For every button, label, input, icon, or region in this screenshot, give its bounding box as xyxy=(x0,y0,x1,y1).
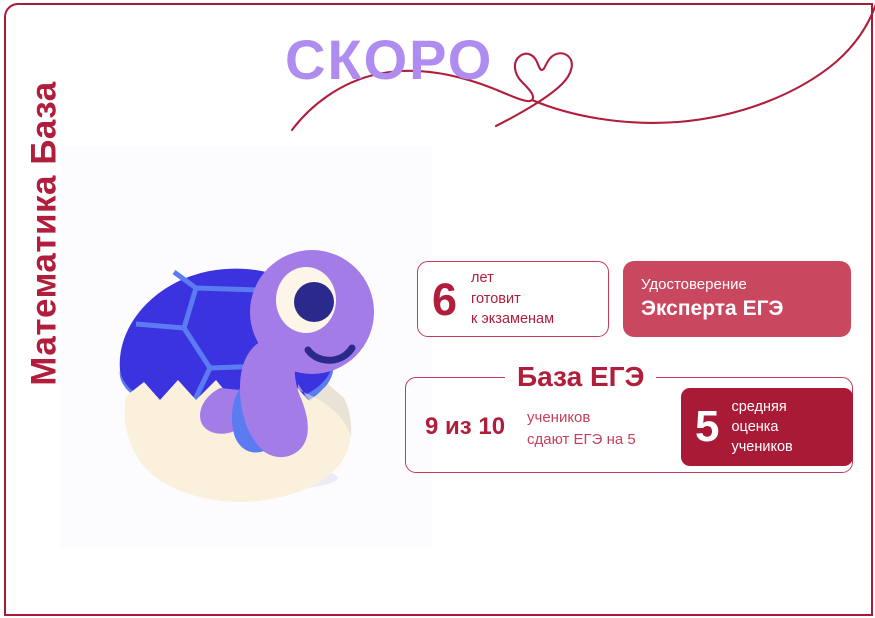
card-years[interactable]: 6 лет готовит к экзаменам xyxy=(417,261,609,337)
panel-ratio-line1: учеников xyxy=(527,407,636,429)
card-years-line1: лет xyxy=(471,268,554,289)
badge-grade-line1: средняя xyxy=(731,397,792,417)
panel-ratio-description: учеников сдают ЕГЭ на 5 xyxy=(527,407,636,451)
panel-ratio-line2: сдают ЕГЭ на 5 xyxy=(527,429,636,451)
badge-grade-text: средняя оценка учеников xyxy=(731,397,792,458)
panel-base-legend: База ЕГЭ xyxy=(505,362,656,393)
badge-average-grade[interactable]: 5 средняя оценка учеников xyxy=(681,388,853,466)
badge-grade-line3: учеников xyxy=(731,437,792,457)
card-expert-title: Эксперта ЕГЭ xyxy=(641,295,851,322)
card-years-line2: готовит xyxy=(471,289,554,310)
hatching-turtle-icon xyxy=(100,220,390,510)
poster-root: СКОРО Математика База 6 xyxy=(0,0,875,618)
card-expert-subtitle: Удостоверение xyxy=(641,275,851,295)
side-title-vertical: Математика База xyxy=(27,14,62,454)
badge-grade-number: 5 xyxy=(695,405,719,449)
card-years-text: лет готовит к экзаменам xyxy=(471,268,554,330)
card-expert[interactable]: Удостоверение Эксперта ЕГЭ xyxy=(623,261,851,337)
badge-grade-line2: оценка xyxy=(731,417,792,437)
card-years-number: 6 xyxy=(432,277,457,322)
page-title-skoro: СКОРО xyxy=(285,32,493,88)
card-years-line3: к экзаменам xyxy=(471,309,554,330)
panel-ratio-value: 9 из 10 xyxy=(425,415,505,439)
